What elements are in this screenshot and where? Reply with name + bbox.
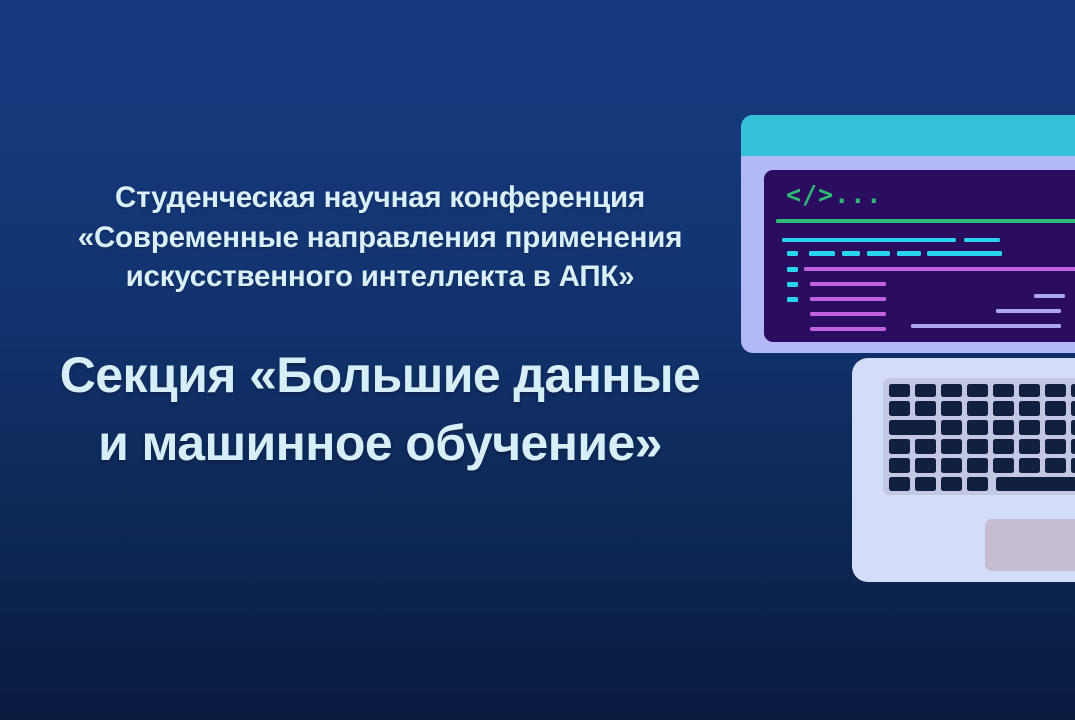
laptop-trackpad xyxy=(985,519,1075,571)
keyboard-key xyxy=(889,458,910,473)
keyboard-key xyxy=(967,384,988,397)
subtitle-line-1: Студенческая научная конференция xyxy=(30,178,730,218)
keyboard-key xyxy=(889,384,910,397)
code-line xyxy=(810,282,886,286)
keyboard-key xyxy=(1019,458,1040,473)
keyboard-key xyxy=(889,420,936,435)
keyboard-key xyxy=(1019,384,1040,397)
keyboard-key xyxy=(941,420,962,435)
code-line xyxy=(927,251,1002,256)
keyboard-key xyxy=(967,477,988,491)
code-line xyxy=(809,251,835,256)
code-line xyxy=(911,324,1061,328)
keyboard-key xyxy=(1045,384,1066,397)
keyboard-key xyxy=(993,384,1014,397)
code-line xyxy=(810,312,886,316)
code-line xyxy=(1034,294,1065,298)
keyboard-key xyxy=(996,477,1075,491)
code-line xyxy=(810,327,886,331)
slide-text-block: Студенческая научная конференция «Соврем… xyxy=(0,0,760,477)
keyboard-key xyxy=(967,439,988,454)
keyboard-key xyxy=(915,458,936,473)
keyboard-key xyxy=(967,458,988,473)
conference-slide: </>... Студенческая научная конференция … xyxy=(0,0,1075,720)
keyboard-key xyxy=(1071,384,1075,397)
keyboard-key xyxy=(993,439,1014,454)
code-line xyxy=(842,251,860,256)
title-line-2: и машинное обучение» xyxy=(30,409,730,477)
keyboard-key xyxy=(941,458,962,473)
keyboard-key xyxy=(967,420,988,435)
section-title: Секция «Большие данные и машинное обучен… xyxy=(0,297,760,477)
keyboard-key xyxy=(915,439,936,454)
keyboard-key xyxy=(941,439,962,454)
laptop-keyboard xyxy=(883,378,1075,495)
keyboard-key xyxy=(889,477,910,491)
code-line xyxy=(782,238,956,242)
keyboard-key xyxy=(1071,458,1075,473)
keyboard-key xyxy=(1019,439,1040,454)
keyboard-key xyxy=(915,401,936,416)
code-line xyxy=(867,251,890,256)
code-window-graphic: </>... xyxy=(741,115,1075,353)
keyboard-key xyxy=(941,384,962,397)
code-line xyxy=(787,297,798,302)
keyboard-key xyxy=(915,477,936,491)
code-line xyxy=(787,251,798,256)
keyboard-key xyxy=(889,401,910,416)
keyboard-key xyxy=(1071,420,1075,435)
keyboard-key xyxy=(1019,401,1040,416)
keyboard-key xyxy=(993,420,1014,435)
subtitle-line-3: искусственного интеллекта в АПК» xyxy=(30,257,730,297)
code-line xyxy=(897,251,921,256)
keyboard-key xyxy=(915,384,936,397)
title-line-1: Секция «Большие данные xyxy=(30,341,730,409)
code-line xyxy=(964,238,1000,242)
keyboard-key xyxy=(1071,401,1075,416)
code-line xyxy=(810,297,886,301)
keyboard-key xyxy=(1045,401,1066,416)
code-line xyxy=(776,219,1075,223)
code-tag-icon: </>... xyxy=(786,180,882,209)
code-line xyxy=(787,282,798,287)
code-window-titlebar xyxy=(741,115,1075,156)
keyboard-key xyxy=(993,401,1014,416)
keyboard-key xyxy=(1045,439,1066,454)
keyboard-key xyxy=(1045,458,1066,473)
keyboard-key xyxy=(967,401,988,416)
code-line xyxy=(996,309,1061,313)
keyboard-key xyxy=(1045,420,1066,435)
keyboard-key xyxy=(1071,439,1075,454)
keyboard-key xyxy=(889,439,910,454)
keyboard-key xyxy=(993,458,1014,473)
code-line xyxy=(787,267,798,272)
subtitle-line-2: «Современные направления применения xyxy=(30,218,730,258)
conference-subtitle: Студенческая научная конференция «Соврем… xyxy=(0,0,760,297)
code-editor-screen: </>... xyxy=(764,170,1075,342)
laptop-base-graphic xyxy=(852,358,1075,582)
keyboard-key xyxy=(941,401,962,416)
keyboard-key xyxy=(941,477,962,491)
keyboard-key xyxy=(1019,420,1040,435)
code-line xyxy=(804,267,1075,271)
